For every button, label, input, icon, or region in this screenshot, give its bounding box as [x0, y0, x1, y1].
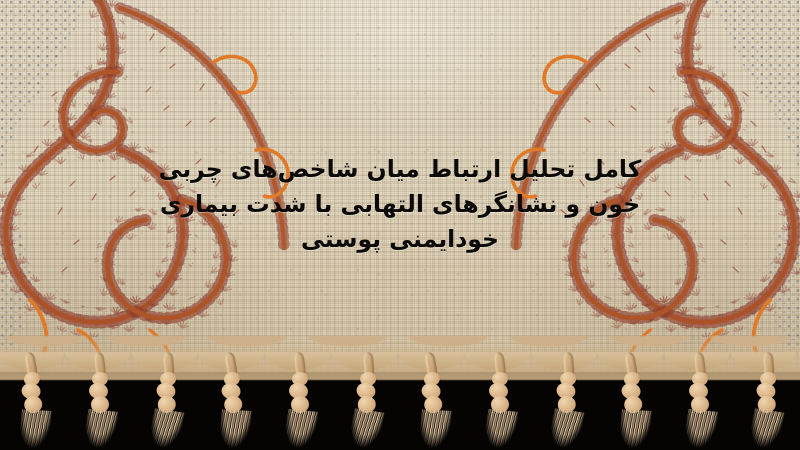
tassel — [483, 352, 517, 448]
title-line-3: خودایمنی پوستی — [120, 222, 680, 257]
tassel — [683, 352, 717, 448]
tassel-skirt — [282, 409, 319, 450]
tassel — [214, 351, 253, 449]
tassel-skirt — [346, 408, 385, 450]
tassel — [614, 351, 653, 449]
tassel — [147, 351, 186, 449]
tassel-skirt — [617, 409, 652, 450]
tassel — [547, 351, 586, 449]
tassel-skirt — [17, 409, 52, 450]
knotted-tassel-fringe — [0, 352, 800, 450]
tassel-skirt — [146, 408, 185, 450]
tassel — [747, 351, 786, 449]
tassel-skirt — [482, 409, 519, 450]
tassel-skirt — [417, 409, 452, 450]
tassel — [283, 352, 317, 448]
title-line-2: خون و نشانگرهای التهابی با شدت بیماری — [120, 187, 680, 222]
tassel-skirt — [82, 409, 119, 450]
tassel — [347, 351, 386, 449]
title-card-scene: کامل تحلیل ارتباط میان شاخص‌های چربی خون… — [0, 0, 800, 450]
tassel-skirt — [546, 408, 585, 450]
tassel — [83, 352, 117, 448]
tassel-skirt — [217, 409, 252, 450]
tassel-skirt — [682, 409, 719, 450]
tassel — [14, 351, 53, 449]
page-title: کامل تحلیل ارتباط میان شاخص‌های چربی خون… — [120, 152, 680, 257]
tassel — [414, 351, 453, 449]
tassel-skirt — [746, 408, 785, 450]
title-line-1: کامل تحلیل ارتباط میان شاخص‌های چربی — [120, 152, 680, 187]
